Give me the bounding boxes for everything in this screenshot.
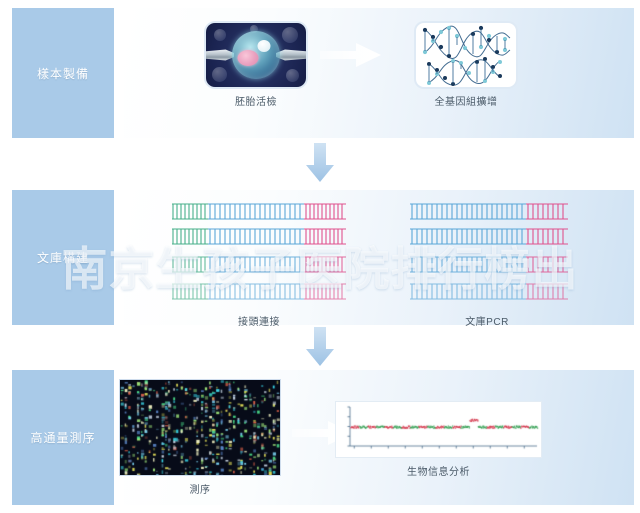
inner-cell-mass-shape	[238, 50, 259, 66]
cell-caption: 胚胎活檢	[235, 93, 277, 108]
sequencing-flowcell-image	[120, 380, 280, 475]
cell-adapter-ligation: 接頭連接	[168, 202, 350, 328]
workflow-row-sample-preparation: 樣本製備 胚胎活檢	[0, 8, 640, 138]
stage-panel-sample-preparation: 胚胎活檢	[124, 8, 634, 138]
stage-panel-sequencing: 測序 生物信息分析	[124, 370, 634, 505]
stage-panel-library-construction: 接頭連接	[124, 190, 634, 325]
arrow-right-icon	[320, 40, 382, 70]
micropipette-left-icon	[206, 50, 234, 61]
cell-bioinformatics-analysis: 生物信息分析	[336, 402, 541, 478]
cell-sequencing: 測序	[120, 380, 280, 496]
stage-label-sample-preparation: 樣本製備	[12, 8, 114, 138]
cell-caption: 文庫PCR	[465, 313, 509, 328]
stage-label-text: 高通量測序	[30, 429, 95, 446]
dna-double-helix-image	[416, 23, 516, 87]
dna-fragment-ladder-pcr	[396, 202, 578, 307]
cell-library-pcr: 文庫PCR	[396, 202, 578, 328]
stage-label-library-construction: 文庫構建	[12, 190, 114, 325]
workflow-diagram: 樣本製備 胚胎活檢	[0, 0, 640, 513]
cnv-plot-image	[336, 402, 541, 457]
stage-label-text: 樣本製備	[37, 65, 89, 82]
cell-embryo-biopsy: 胚胎活檢	[206, 23, 306, 108]
dna-fragment-ladder-adapter	[168, 202, 350, 307]
stage-label-text: 文庫構建	[37, 249, 89, 266]
vacuole-shape	[257, 40, 270, 52]
micropipette-right-icon	[276, 50, 306, 61]
cell-caption: 接頭連接	[238, 313, 280, 328]
workflow-row-sequencing: 高通量測序 測序	[0, 370, 640, 505]
stage-label-sequencing: 高通量測序	[12, 370, 114, 505]
cell-whole-genome-amplification: 全基因組擴增	[416, 23, 516, 108]
cell-caption: 生物信息分析	[407, 463, 470, 478]
blastocyst-shape	[232, 31, 280, 79]
arrow-down-icon	[305, 327, 335, 367]
arrow-down-icon	[305, 143, 335, 183]
workflow-row-library-construction: 文庫構建	[0, 190, 640, 325]
cell-caption: 測序	[190, 481, 211, 496]
cell-caption: 全基因組擴增	[435, 93, 498, 108]
embryo-biopsy-image	[206, 23, 306, 87]
